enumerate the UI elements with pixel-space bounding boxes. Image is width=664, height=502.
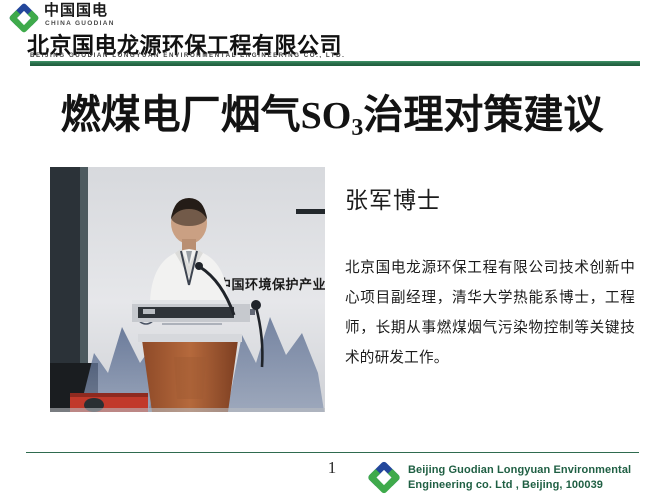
footer-line-2: Engineering co. Ltd , Beijing, 100039 <box>408 478 631 493</box>
page-title-part2: 治理对策建议 <box>363 93 603 137</box>
company-name-en: BEIJING GUODIAN LONGYUAN ENVIRONMENTAL E… <box>30 52 345 59</box>
header-divider <box>30 61 640 66</box>
speaker-bio: 北京国电龙源环保工程有限公司技术创新中心项目副经理，清华大学热能系博士，工程师，… <box>345 253 635 373</box>
page-title-formula: SO3 <box>301 95 364 137</box>
speaker-name: 张军博士 <box>345 181 441 215</box>
guodian-diamond-logo-icon <box>366 461 402 494</box>
svg-text:中国环境保护产业协会: 中国环境保护产业协会 <box>218 277 325 292</box>
page-number: 1 <box>324 458 340 478</box>
speaker-at-podium-photo: 中国环境保护产业协会 <box>50 167 325 412</box>
slide-header: 中国国电 CHINA GUODIAN 北京国电龙源环保工程有限公司 BEIJIN… <box>0 0 664 70</box>
brand-name-cn: 中国国电 <box>44 2 108 19</box>
footer-company-address: Beijing Guodian Longyuan Environmental E… <box>408 463 631 493</box>
formula-main: SO <box>301 95 352 137</box>
page-title: 燃煤电厂烟气SO3治理对策建议 <box>0 82 664 140</box>
presentation-slide: 中国国电 CHINA GUODIAN 北京国电龙源环保工程有限公司 BEIJIN… <box>0 0 664 502</box>
footer-divider <box>26 452 639 453</box>
page-title-part1: 燃煤电厂烟气 <box>61 93 301 137</box>
brand-name-en: CHINA GUODIAN <box>45 20 115 27</box>
footer-line-1: Beijing Guodian Longyuan Environmental <box>408 463 631 478</box>
formula-subscript: 3 <box>351 115 363 141</box>
